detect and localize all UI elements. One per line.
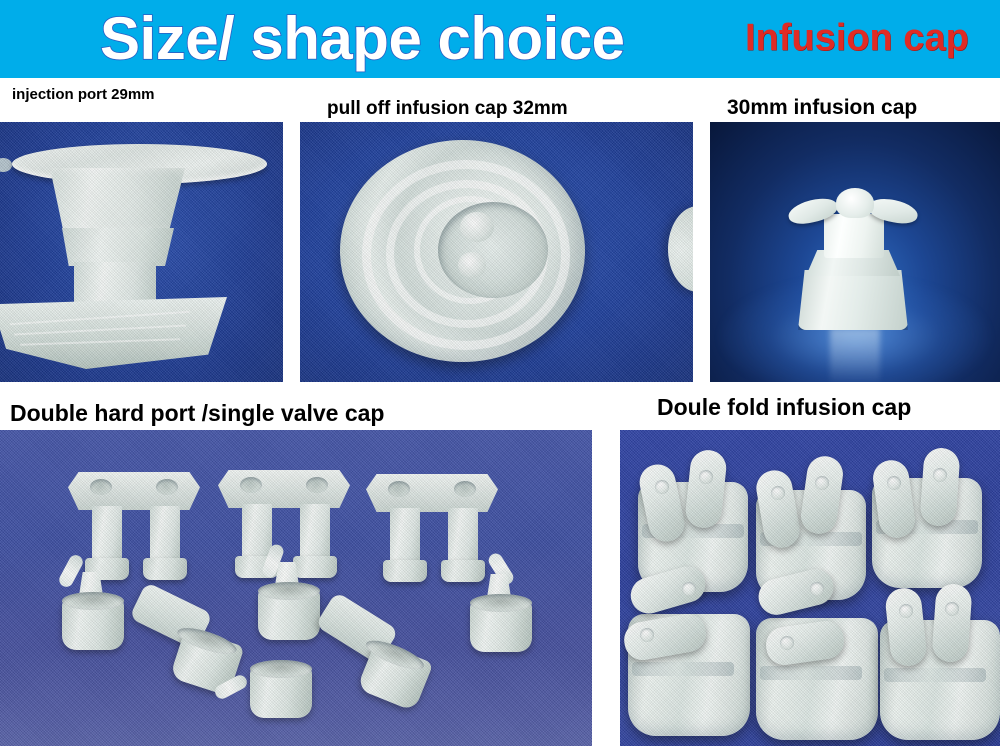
cap-band — [760, 666, 862, 680]
cap-band — [884, 668, 986, 682]
port-hole — [240, 477, 262, 493]
panel-label-double-hard-port: Double hard port /single valve cap — [10, 400, 384, 427]
fold-tab-right — [919, 447, 960, 527]
valve-rim — [470, 594, 532, 612]
port-hole — [306, 477, 328, 493]
cap-skirt — [798, 270, 908, 330]
port-foot — [383, 560, 427, 582]
port-foot — [441, 560, 485, 582]
double-fold-cap — [868, 440, 986, 590]
photo-doule-fold-infusion-cap — [620, 430, 1000, 746]
port-tube — [300, 504, 330, 562]
port-tube — [448, 508, 478, 566]
port-base-wing — [0, 297, 227, 369]
photo-30mm-infusion-cap — [710, 122, 1000, 382]
valve-rim — [250, 660, 312, 678]
tab-nub-right — [945, 602, 959, 616]
panel-label-doule-fold-infusion-cap: Doule fold infusion cap — [657, 394, 911, 421]
tab-nub-left — [771, 486, 785, 500]
tab-nub-lower — [780, 636, 794, 650]
pull-off-cap — [340, 140, 585, 362]
tab-nub-lower — [640, 628, 654, 642]
port-plate — [68, 472, 200, 510]
photo-pull-off-infusion-cap — [300, 122, 693, 382]
product-catalog-image: Size/ shape choice Infusion cap injectio… — [0, 0, 1000, 746]
photo-double-hard-port-single-valve-cap — [0, 430, 592, 746]
tab-nub-upper — [682, 582, 696, 596]
banner-subtitle: Infusion cap — [745, 14, 969, 62]
panel-label-pull-off-infusion-cap: pull off infusion cap 32mm — [327, 98, 568, 120]
panel-label-30mm-infusion-cap: 30mm infusion cap — [727, 96, 917, 120]
tab-nub-right — [699, 470, 713, 484]
tab-nub-left — [887, 476, 901, 490]
panel-label-injection-port: injection port 29mm — [12, 86, 155, 103]
port-hole — [90, 479, 112, 495]
base-rib — [20, 338, 180, 346]
base-rib — [14, 325, 186, 336]
tab-nub-upper — [810, 582, 824, 596]
tab-nub-right — [815, 476, 829, 490]
fold-tab-right — [931, 583, 972, 663]
cap-knob — [836, 188, 874, 218]
port-plate — [366, 474, 498, 512]
port-step — [62, 228, 174, 266]
port-hole — [388, 481, 410, 497]
double-fold-cap — [624, 576, 742, 726]
tab-nub-left — [899, 604, 913, 618]
header-banner: Size/ shape choice Infusion cap — [0, 0, 1000, 78]
surface-reflection — [830, 328, 880, 382]
adjacent-cap-partial — [668, 206, 693, 292]
port-foot — [293, 556, 337, 578]
port-foot — [143, 558, 187, 580]
port-hole — [454, 481, 476, 497]
tab-nub-right — [933, 468, 947, 482]
port-body — [50, 168, 185, 232]
cap-band — [632, 662, 734, 676]
photo-injection-port — [0, 122, 283, 382]
port-tube — [390, 508, 420, 566]
cap-plug — [824, 214, 884, 258]
valve-rim — [62, 592, 124, 610]
base-rib — [10, 311, 190, 326]
valve-rim — [258, 582, 320, 600]
port-hole — [156, 479, 178, 495]
cap-dimple-lower — [458, 252, 486, 278]
tab-nub-left — [655, 480, 669, 494]
port-plate — [218, 470, 350, 508]
double-fold-cap — [752, 580, 870, 730]
cap-recess — [438, 202, 548, 298]
cap-dimple-upper — [460, 212, 494, 242]
port-tube — [92, 506, 122, 564]
photo-artifact — [0, 158, 12, 172]
port-tube — [150, 506, 180, 564]
double-fold-cap — [876, 582, 994, 732]
page-title: Size/ shape choice — [100, 2, 625, 76]
